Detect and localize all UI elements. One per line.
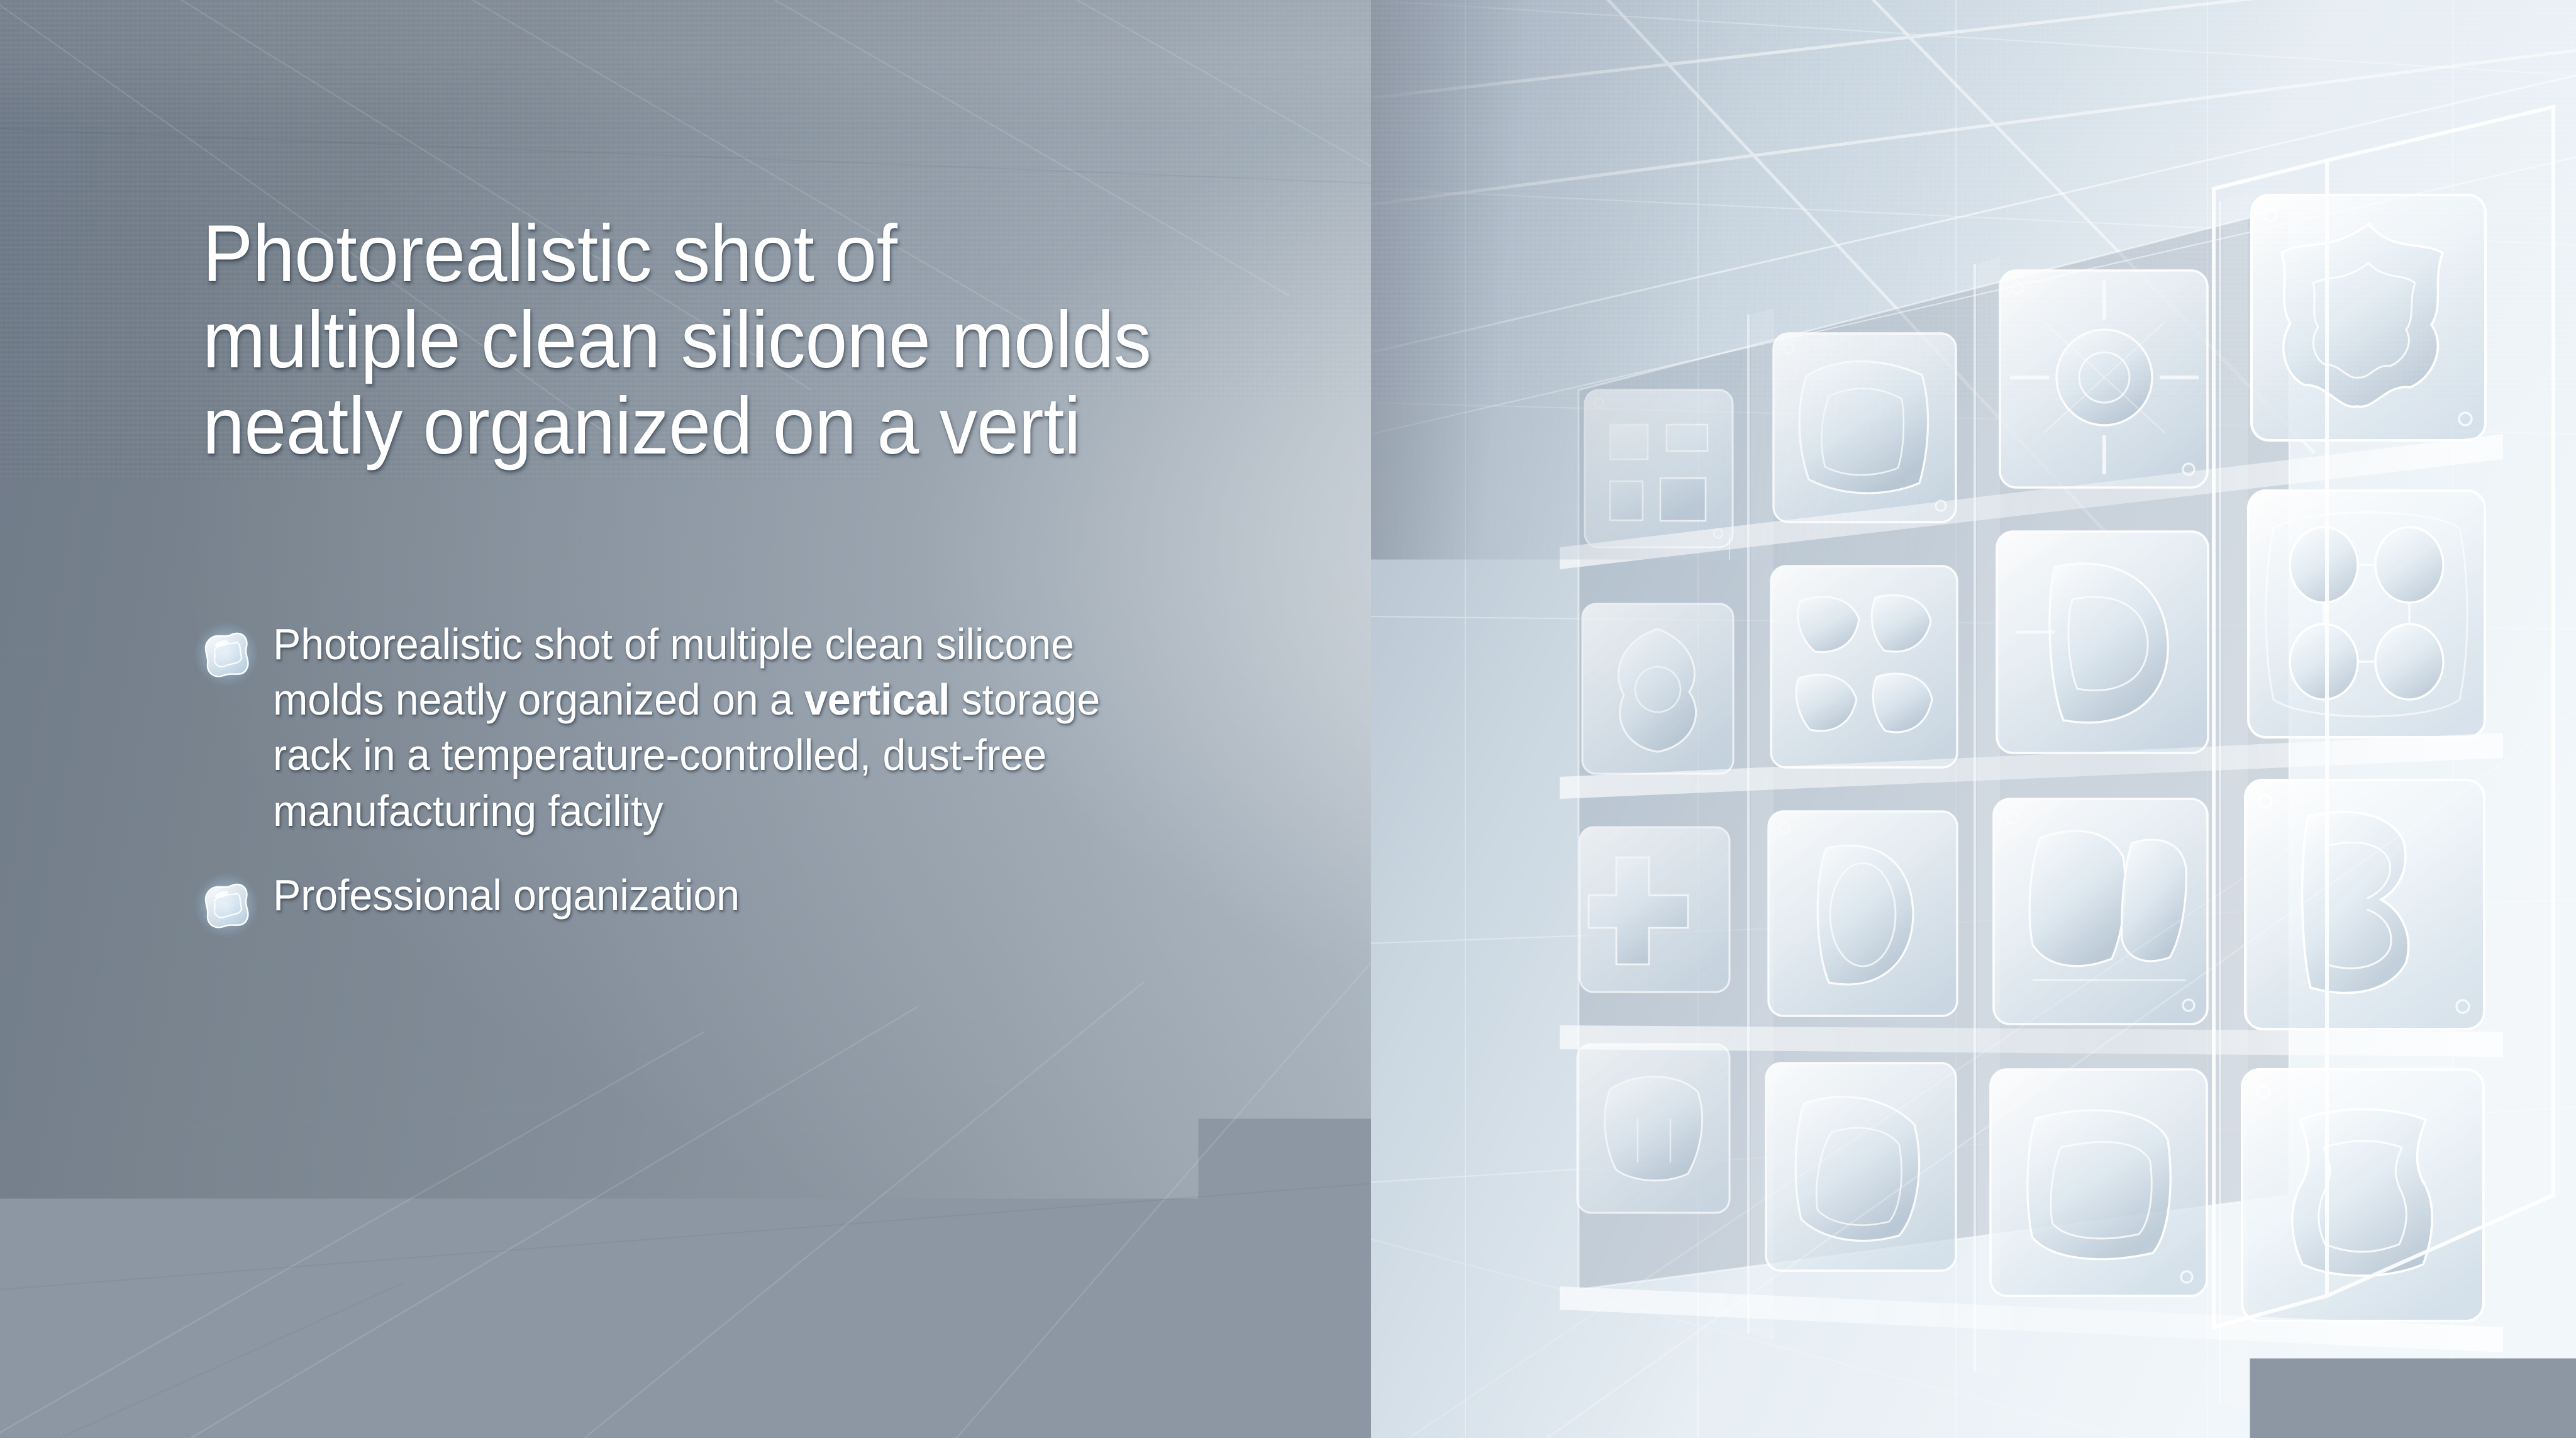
list-item: Professional organization [191,867,1172,940]
bullet-text-bold: vertical [804,675,950,724]
silicone-mold-bullet-icon [191,619,262,689]
bullet-text-part-1: Professional organization [273,871,740,920]
slide-content-column: Photorealistic shot of multiple clean si… [203,0,1410,1438]
bullet-text: Professional organization [273,867,1128,923]
silicone-mold-bullet-icon [191,870,262,940]
bullet-text: Photorealistic shot of multiple clean si… [273,616,1128,839]
slide-title: Photorealistic shot of multiple clean si… [203,211,1302,470]
bullet-list: Photorealistic shot of multiple clean si… [191,616,1172,940]
list-item: Photorealistic shot of multiple clean si… [191,616,1172,839]
presentation-slide: Photorealistic shot of multiple clean si… [0,0,2576,1438]
